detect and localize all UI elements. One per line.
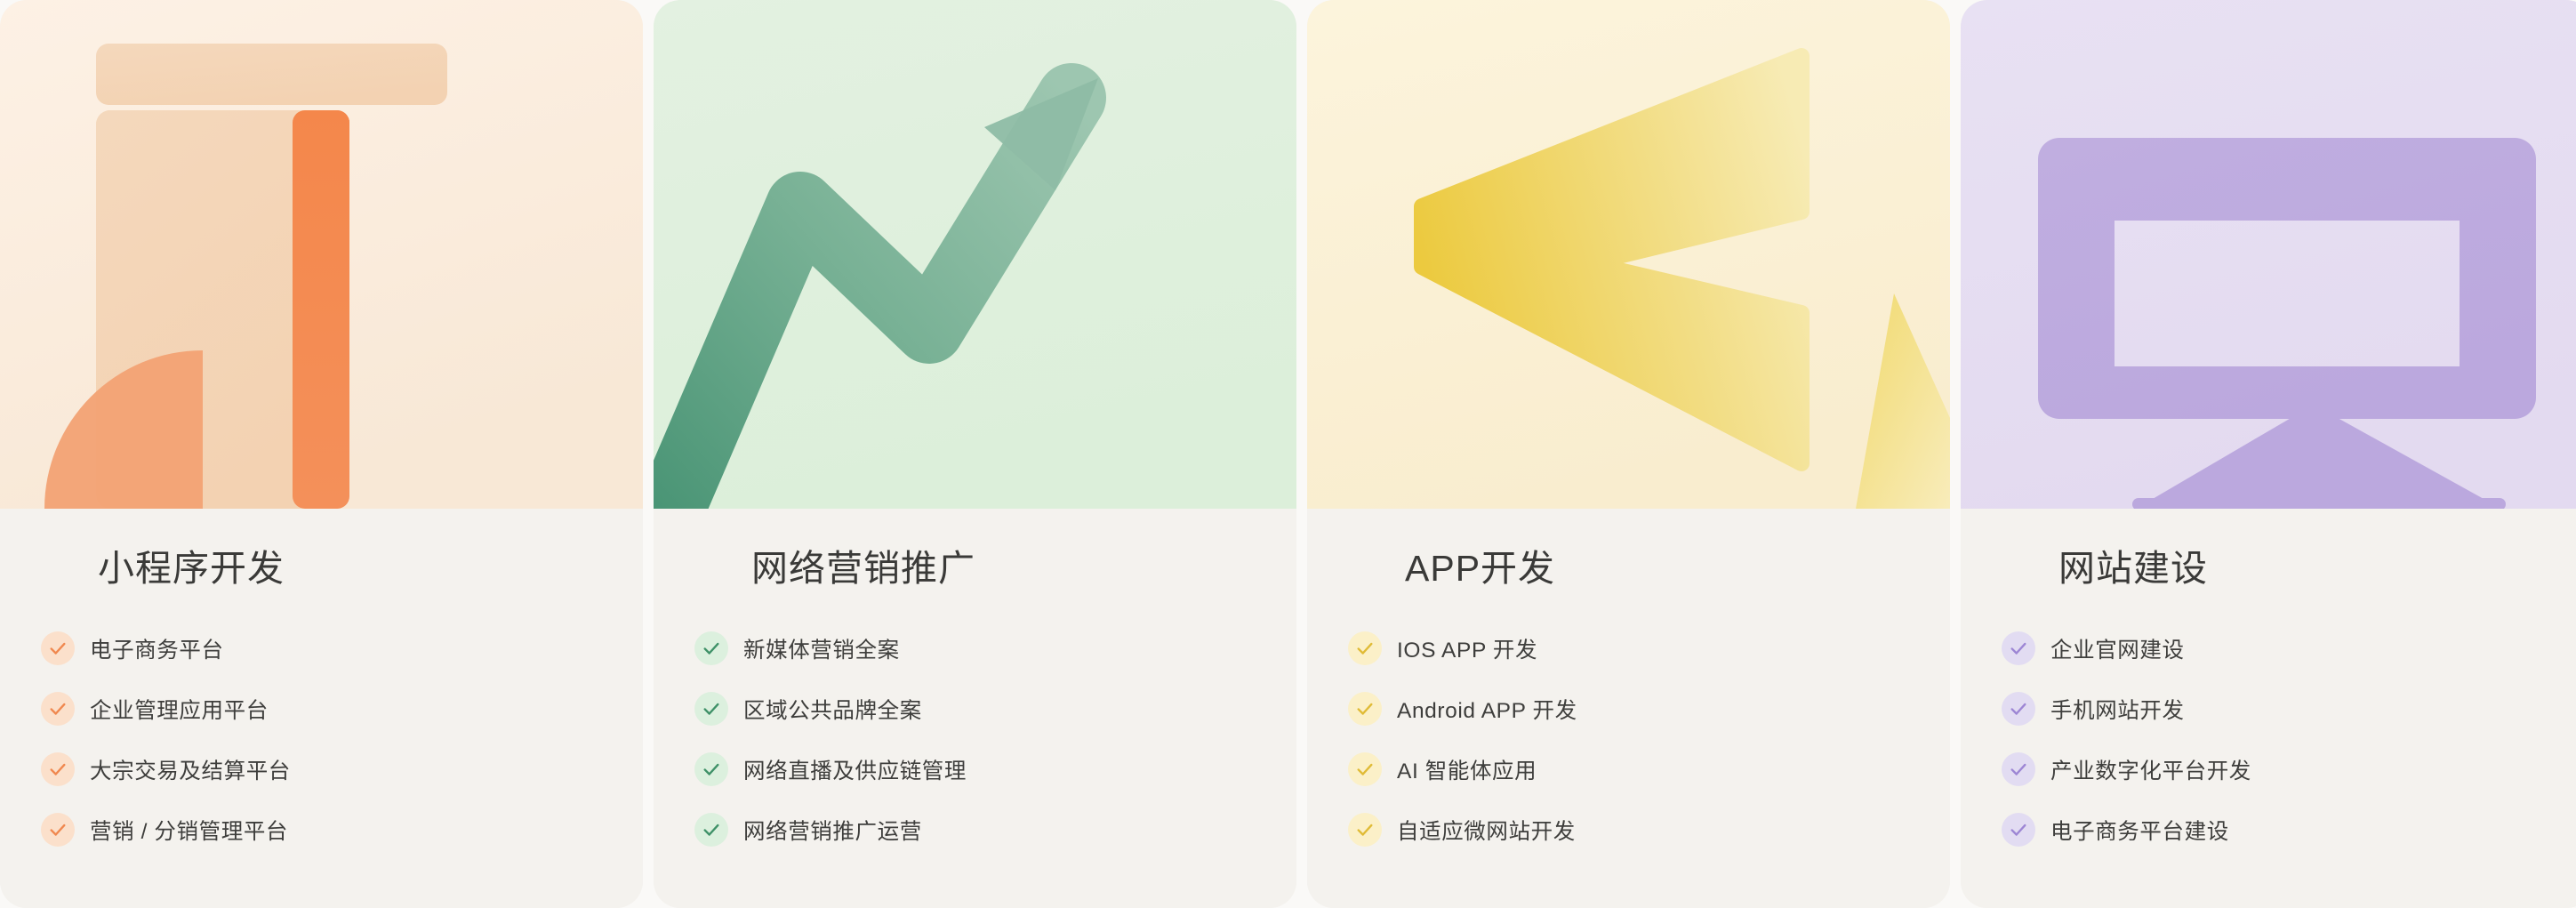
check-icon: [694, 813, 728, 847]
check-icon: [2002, 813, 2035, 847]
list-item[interactable]: 产业数字化平台开发: [2002, 739, 2576, 800]
service-card-website-construction[interactable]: 网站建设 企业官网建设 手机网站开发: [1961, 0, 2576, 908]
check-icon: [1348, 692, 1382, 726]
card-body-mini-program: 小程序开发 电子商务平台 企业管理应用平台: [0, 509, 643, 908]
check-icon: [1348, 631, 1382, 665]
code-chevron-icon: [1307, 0, 1950, 509]
list-item-label: 企业管理应用平台: [90, 694, 269, 725]
card-title: 网络营销推广: [654, 546, 1296, 591]
list-item-label: 网络直播及供应链管理: [743, 754, 967, 785]
list-item[interactable]: 营销 / 分销管理平台: [41, 800, 643, 860]
feature-list: 企业官网建设 手机网站开发 产业数字化平台开发: [1961, 618, 2576, 860]
list-item-label: 营销 / 分销管理平台: [90, 815, 288, 846]
list-item[interactable]: 电子商务平台: [41, 618, 643, 679]
card-body-website-construction: 网站建设 企业官网建设 手机网站开发: [1961, 509, 2576, 908]
list-item-label: 网络营销推广运营: [743, 815, 922, 846]
list-item[interactable]: 网络直播及供应链管理: [694, 739, 1296, 800]
list-item[interactable]: 区域公共品牌全案: [694, 679, 1296, 739]
check-icon: [41, 813, 75, 847]
list-item[interactable]: 电子商务平台建设: [2002, 800, 2576, 860]
list-item[interactable]: 新媒体营销全案: [694, 618, 1296, 679]
list-item-label: 电子商务平台: [90, 633, 224, 664]
feature-list: IOS APP 开发 Android APP 开发 AI 智能体应用: [1307, 618, 1950, 860]
service-card-network-marketing[interactable]: 网络营销推广 新媒体营销全案 区域公共品牌全案: [654, 0, 1296, 908]
check-icon: [2002, 631, 2035, 665]
card-body-app-development: APP开发 IOS APP 开发 Android APP 开发: [1307, 509, 1950, 908]
list-item[interactable]: AI 智能体应用: [1348, 739, 1950, 800]
list-item[interactable]: 网络营销推广运营: [694, 800, 1296, 860]
list-item-label: AI 智能体应用: [1397, 754, 1537, 785]
list-item-label: Android APP 开发: [1397, 694, 1577, 725]
list-item[interactable]: 企业官网建设: [2002, 618, 2576, 679]
list-item[interactable]: 企业管理应用平台: [41, 679, 643, 739]
check-icon: [41, 631, 75, 665]
list-item[interactable]: 大宗交易及结算平台: [41, 739, 643, 800]
check-icon: [1348, 813, 1382, 847]
check-icon: [2002, 692, 2035, 726]
card-body-network-marketing: 网络营销推广 新媒体营销全案 区域公共品牌全案: [654, 509, 1296, 908]
monitor-airplay-icon: [1961, 0, 2576, 509]
check-icon: [694, 752, 728, 786]
feature-list: 电子商务平台 企业管理应用平台 大宗交易及结算平台: [0, 618, 643, 860]
check-icon: [41, 752, 75, 786]
check-icon: [41, 692, 75, 726]
list-item[interactable]: 手机网站开发: [2002, 679, 2576, 739]
wireframe-layout-icon: [0, 0, 643, 509]
list-item[interactable]: Android APP 开发: [1348, 679, 1950, 739]
check-icon: [1348, 752, 1382, 786]
card-illustration-website-construction: [1961, 0, 2576, 509]
check-icon: [2002, 752, 2035, 786]
service-card-mini-program[interactable]: 小程序开发 电子商务平台 企业管理应用平台: [0, 0, 643, 908]
list-item-label: 区域公共品牌全案: [743, 694, 922, 725]
card-title: APP开发: [1307, 546, 1950, 591]
list-item[interactable]: 自适应微网站开发: [1348, 800, 1950, 860]
service-card-app-development[interactable]: APP开发 IOS APP 开发 Android APP 开发: [1307, 0, 1950, 908]
card-title: 网站建设: [1961, 546, 2576, 591]
list-item-label: IOS APP 开发: [1397, 633, 1537, 664]
trending-up-arrow-icon: [654, 0, 1296, 509]
card-illustration-mini-program: [0, 0, 643, 509]
check-icon: [694, 692, 728, 726]
check-icon: [694, 631, 728, 665]
list-item-label: 大宗交易及结算平台: [90, 754, 291, 785]
list-item[interactable]: IOS APP 开发: [1348, 618, 1950, 679]
card-title: 小程序开发: [0, 546, 643, 591]
card-illustration-network-marketing: [654, 0, 1296, 509]
list-item-label: 电子商务平台建设: [2050, 815, 2229, 846]
feature-list: 新媒体营销全案 区域公共品牌全案 网络直播及供应链管理: [654, 618, 1296, 860]
list-item-label: 新媒体营销全案: [743, 633, 900, 664]
list-item-label: 产业数字化平台开发: [2050, 754, 2251, 785]
card-illustration-app-development: [1307, 0, 1950, 509]
list-item-label: 手机网站开发: [2050, 694, 2185, 725]
service-cards-board: 小程序开发 电子商务平台 企业管理应用平台: [0, 0, 2576, 908]
list-item-label: 企业官网建设: [2050, 633, 2185, 664]
list-item-label: 自适应微网站开发: [1397, 815, 1576, 846]
